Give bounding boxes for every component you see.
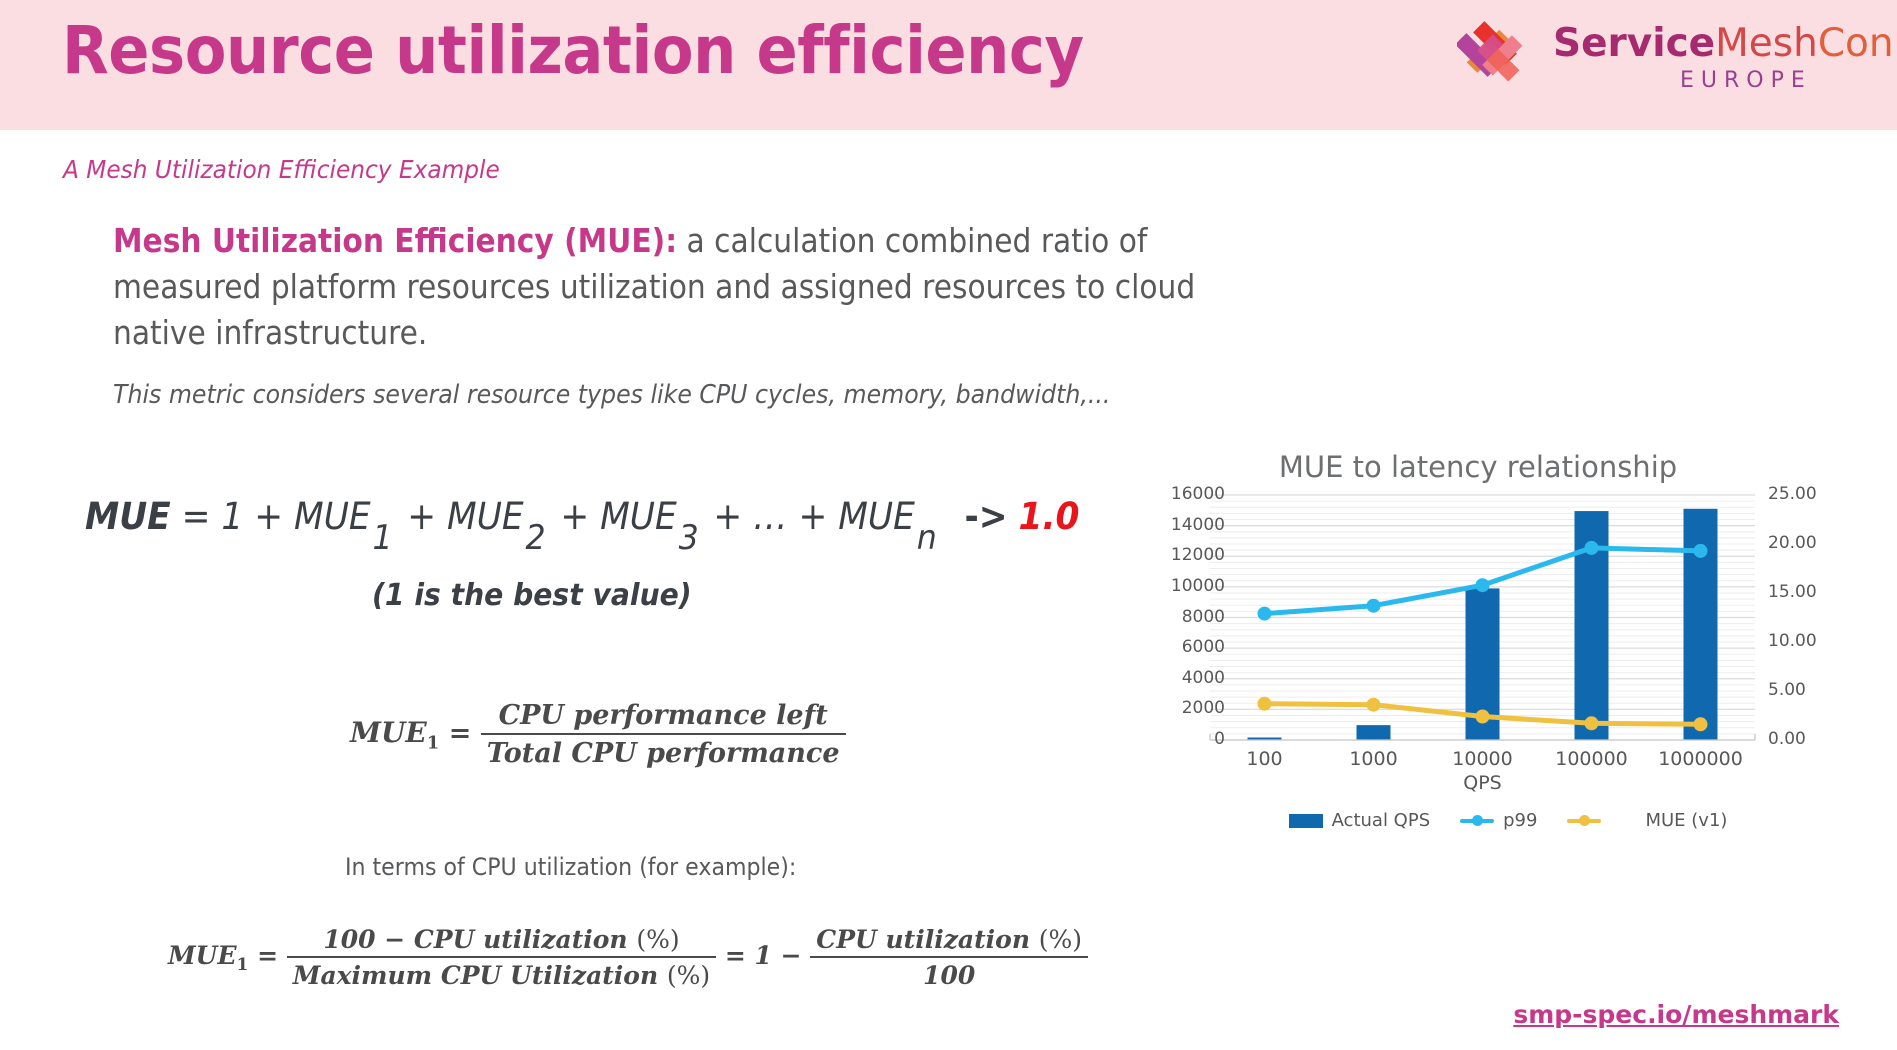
chart-data-point	[1694, 717, 1708, 731]
formula-term-n: + … + MUE	[713, 495, 915, 538]
legend-line-swatch	[1460, 814, 1494, 828]
eq2-den1-text: Maximum CPU Utilization	[293, 961, 658, 990]
eq2-den1-pct: (%)	[667, 961, 710, 990]
spec-link[interactable]: smp-spec.io/meshmark	[1513, 1000, 1839, 1029]
logo-word-con: Con	[1818, 21, 1894, 66]
eq2-denominator-2: 100	[810, 958, 1088, 990]
chart-x-tick: 1000	[1314, 748, 1434, 770]
servicemeshcon-logo: ServiceMeshCon EUROPE	[1435, 10, 1855, 115]
chart-legend-item[interactable]: Actual QPS	[1289, 810, 1431, 831]
chart-data-point	[1585, 541, 1599, 555]
logo-wordmark: ServiceMeshCon	[1553, 22, 1894, 66]
definition-paragraph: Mesh Utilization Efficiency (MUE): a cal…	[113, 218, 1274, 356]
mue1-cpu-equation: MUE1 = 100 − CPU utilization (%) Maximum…	[168, 925, 1088, 990]
best-value-note: (1 is the best value)	[372, 578, 692, 613]
mue1-definition-equation: MUE1 = CPU performance left Total CPU pe…	[350, 700, 846, 769]
formula-arrow: ->	[964, 495, 1007, 538]
eq2-denominator-1: Maximum CPU Utilization (%)	[287, 958, 716, 990]
chart-data-point	[1476, 578, 1490, 592]
logo-word-service: Service	[1553, 21, 1715, 66]
chart-y-tick: 10000	[1171, 576, 1225, 596]
formula-term-2: + MUE	[407, 495, 523, 538]
eq1-lhs: MUE1	[350, 716, 439, 749]
cpu-utilization-note: In terms of CPU utilization (for example…	[345, 853, 796, 881]
chart-x-tick: 1000000	[1641, 748, 1761, 770]
mue-latency-chart: MUE to latency relationship QPS Actual Q…	[1128, 450, 1888, 795]
chart-y2-tick: 20.00	[1768, 533, 1817, 553]
eq2-lhs: MUE1	[168, 941, 248, 970]
chart-x-tick: 100000	[1532, 748, 1652, 770]
chart-data-point	[1258, 607, 1272, 621]
formula-term-3: + MUE	[560, 495, 676, 538]
formula-sub-n: n	[917, 518, 937, 558]
chart-data-point	[1585, 716, 1599, 730]
logo-word-mesh: Mesh	[1715, 21, 1818, 66]
chart-plot-area	[1210, 495, 1755, 740]
eq2-numerator-1: 100 − CPU utilization (%)	[287, 925, 716, 958]
chart-y2-tick: 5.00	[1768, 680, 1806, 700]
formula-sub-2: 2	[526, 518, 546, 558]
eq2-num2-text: CPU utilization	[816, 925, 1030, 954]
chart-y-tick: 8000	[1182, 607, 1225, 627]
chart-y-tick: 12000	[1171, 545, 1225, 565]
chart-data-point	[1694, 544, 1708, 558]
chart-y-tick: 4000	[1182, 668, 1225, 688]
eq2-fraction-2: CPU utilization (%) 100	[810, 925, 1088, 990]
chart-data-point	[1367, 698, 1381, 712]
chart-legend-item[interactable]: MUE (v1)	[1567, 810, 1727, 831]
chart-x-tick: 100	[1205, 748, 1325, 770]
servicemeshcon-diamond-logo-icon	[1457, 14, 1539, 96]
chart-y2-tick: 25.00	[1768, 484, 1817, 504]
eq2-num1-text: 100 − CPU utilization	[323, 925, 627, 954]
chart-y-tick: 16000	[1171, 484, 1225, 504]
slide-header: Resource utilization efficiency ServiceM…	[0, 0, 1897, 130]
chart-legend-label: MUE (v1)	[1645, 810, 1727, 831]
chart-title: MUE to latency relationship	[1128, 450, 1828, 484]
eq1-fraction: CPU performance left Total CPU performan…	[481, 700, 846, 769]
eq2-lhs-text: MUE	[168, 941, 237, 970]
chart-bar	[1684, 509, 1718, 740]
chart-data-point	[1367, 599, 1381, 613]
eq1-lhs-sub: 1	[427, 733, 440, 754]
slide-root: Resource utilization efficiency ServiceM…	[0, 0, 1897, 1050]
chart-y2-tick: 10.00	[1768, 631, 1817, 651]
eq2-numerator-2: CPU utilization (%)	[810, 925, 1088, 958]
eq1-denominator: Total CPU performance	[481, 735, 846, 769]
formula-sub-3: 3	[679, 518, 699, 558]
eq1-numerator: CPU performance left	[481, 700, 846, 735]
eq2-lhs-sub: 1	[237, 955, 249, 975]
chart-legend-label: p99	[1503, 810, 1537, 831]
chart-y-tick: 14000	[1171, 515, 1225, 535]
chart-legend-label: Actual QPS	[1332, 810, 1431, 831]
eq1-lhs-text: MUE	[350, 716, 427, 749]
chart-y-tick: 0	[1214, 729, 1225, 749]
chart-x-axis-label: QPS	[1210, 772, 1755, 794]
chart-bar	[1357, 725, 1391, 740]
logo-region-label: EUROPE	[1680, 68, 1812, 93]
eq2-num1-pct: (%)	[636, 925, 679, 954]
eq2-fraction-1: 100 − CPU utilization (%) Maximum CPU Ut…	[287, 925, 716, 990]
formula-eq: = 1 + MUE	[182, 495, 371, 538]
legend-line-swatch	[1567, 814, 1601, 828]
mue-sum-formula: MUE = 1 + MUE1 + MUE2 + MUE3 + … + MUEn …	[85, 495, 1079, 558]
chart-data-point	[1258, 697, 1272, 711]
metric-note: This metric considers several resource t…	[113, 378, 1187, 412]
eq2-num2-pct: (%)	[1039, 925, 1082, 954]
chart-y2-tick: 15.00	[1768, 582, 1817, 602]
eq1-equals: =	[449, 718, 472, 749]
chart-x-tick: 10000	[1423, 748, 1543, 770]
chart-data-point	[1476, 710, 1490, 724]
eq2-equals: =	[257, 941, 278, 970]
chart-y-tick: 6000	[1182, 637, 1225, 657]
eq2-equals-2: = 1 −	[725, 941, 802, 970]
slide-subtitle: A Mesh Utilization Efficiency Example	[63, 155, 500, 184]
chart-y-tick: 2000	[1182, 698, 1225, 718]
chart-legend: Actual QPSp99MUE (v1)	[1188, 810, 1828, 831]
definition-term: Mesh Utilization Efficiency (MUE):	[113, 221, 677, 260]
chart-y2-tick: 0.00	[1768, 729, 1806, 749]
legend-bar-swatch	[1289, 814, 1323, 828]
formula-lhs: MUE	[85, 495, 171, 538]
page-title: Resource utilization efficiency	[62, 12, 1084, 89]
chart-legend-item[interactable]: p99	[1460, 810, 1537, 831]
formula-sub-1: 1	[372, 518, 392, 558]
formula-target-value: 1.0	[1019, 495, 1080, 538]
